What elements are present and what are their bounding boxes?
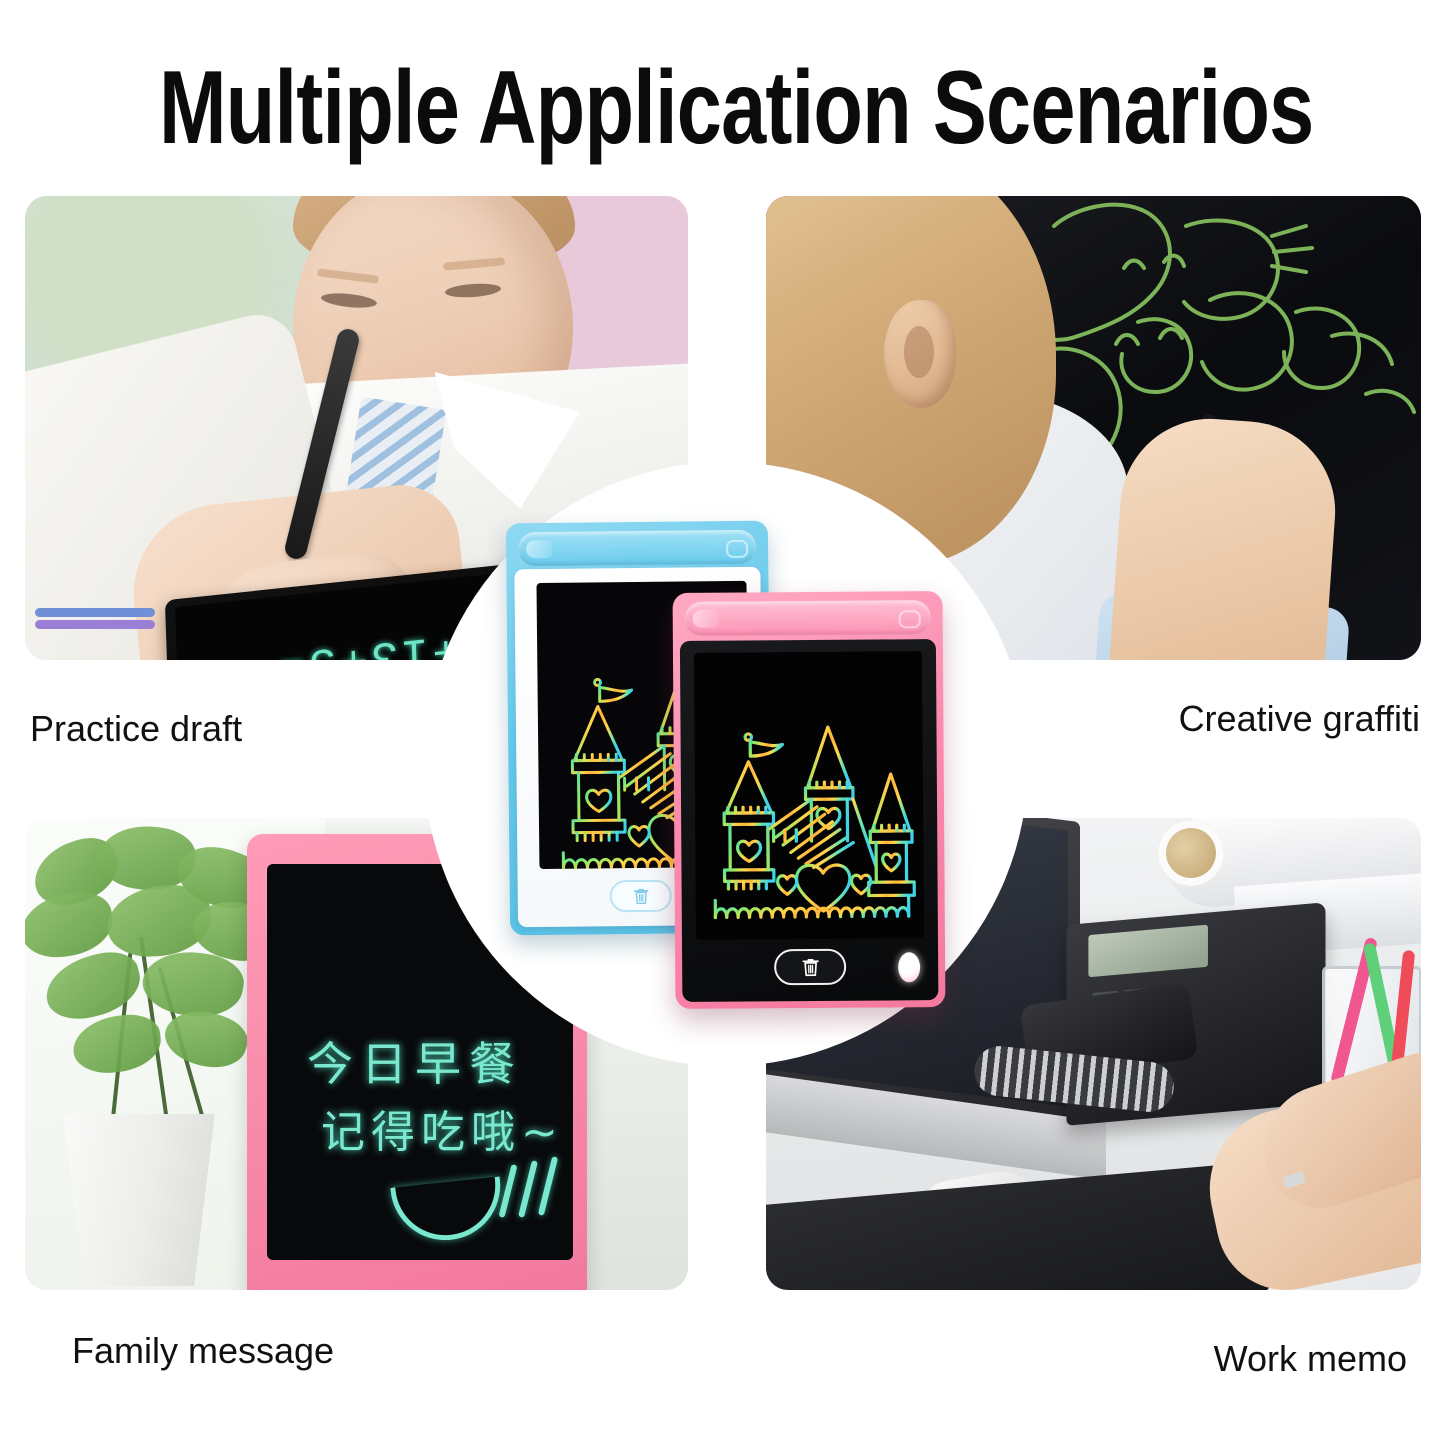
child-hand xyxy=(1106,413,1341,660)
handwritten-stroke xyxy=(499,1164,518,1218)
caption-family-message: Family message xyxy=(72,1330,334,1372)
pink-stylus-holder xyxy=(685,600,931,636)
pink-tablet-screen xyxy=(694,651,924,940)
blue-stylus-holder xyxy=(518,530,756,566)
pencil-purple xyxy=(35,620,155,629)
caption-practice-draft: Practice draft xyxy=(30,708,242,750)
caption-creative-graffiti: Creative graffiti xyxy=(1179,698,1420,740)
blue-erase-button[interactable] xyxy=(610,880,672,913)
phone-display xyxy=(1088,925,1208,978)
caption-work-memo: Work memo xyxy=(1214,1338,1407,1380)
handwritten-note-line1: 今日早餐 xyxy=(307,1028,523,1094)
product-pink-tablet[interactable] xyxy=(673,591,946,1009)
handwritten-smiley xyxy=(390,1176,505,1245)
product-feature-image: Multiple Application Scenarios 1 xyxy=(0,0,1445,1445)
handwritten-note-line2: 记得吃哦~ xyxy=(321,1096,564,1160)
power-led-indicator xyxy=(898,952,920,982)
pencil-blue xyxy=(35,608,155,617)
pink-tablet-bezel xyxy=(680,639,939,1002)
handwritten-stroke xyxy=(518,1160,538,1218)
trash-icon xyxy=(633,887,648,904)
rainbow-castle-drawing xyxy=(706,709,924,937)
page-title: Multiple Application Scenarios xyxy=(159,52,1286,164)
trash-icon xyxy=(802,957,819,976)
handwritten-stroke xyxy=(538,1156,558,1216)
pencils-on-desk xyxy=(35,608,155,636)
child-ear xyxy=(884,300,956,408)
plant-leaf xyxy=(70,1012,163,1077)
pink-erase-button[interactable] xyxy=(774,949,846,986)
plant-leaf xyxy=(25,888,117,962)
